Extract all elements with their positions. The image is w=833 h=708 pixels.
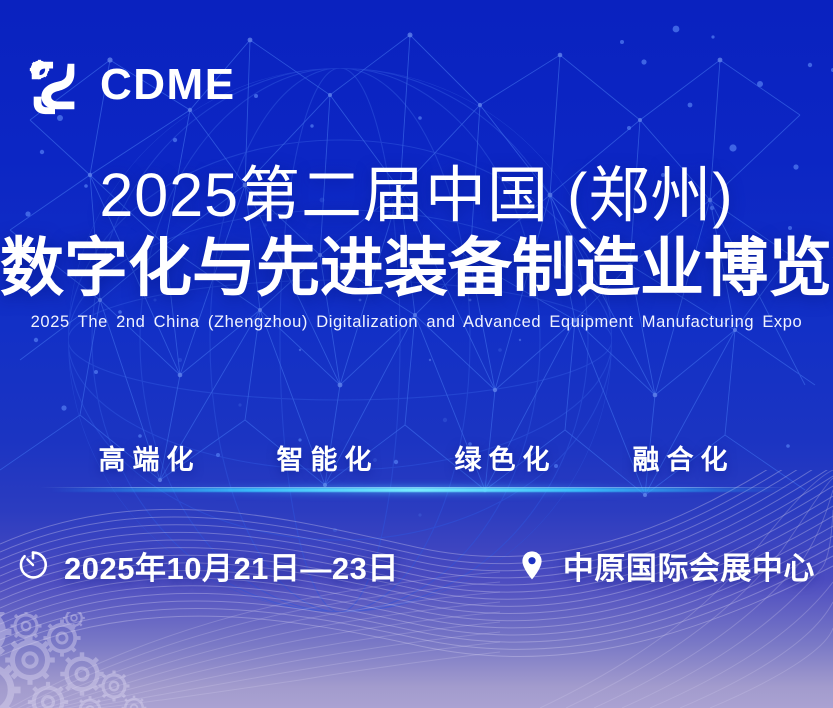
title-line-2: 数字化与先进装备制造业博览会	[0, 233, 833, 305]
keyword-list: 高端化 智能化 绿色化 融合化	[0, 438, 833, 477]
clock-icon	[16, 548, 50, 582]
glowing-divider	[0, 481, 833, 497]
divider-core-line	[50, 488, 783, 492]
brand-logo[interactable]: CDME	[24, 54, 236, 116]
brand-name: CDME	[100, 63, 236, 107]
gear-cluster-graphic	[0, 612, 204, 708]
keyword-item-3: 绿色化	[455, 438, 557, 477]
event-date-item: 2025年10月21日—23日	[16, 543, 399, 588]
cdme-gear-s-logo-icon	[24, 54, 86, 116]
keyword-item-4: 融合化	[633, 438, 735, 477]
event-venue-item: 中原国际会展中心	[515, 543, 815, 588]
title-line-1: 2025第二届中国 (郑州)	[0, 163, 833, 229]
event-poster: CDME 2025第二届中国 (郑州) 数字化与先进装备制造业博览会 2025 …	[0, 0, 833, 708]
location-pin-icon	[515, 548, 549, 582]
event-venue-text: 中原国际会展中心	[563, 543, 815, 588]
title-english-subtitle: 2025 The 2nd China (Zhengzhou) Digitaliz…	[0, 313, 833, 332]
event-date-text: 2025年10月21日—23日	[64, 543, 399, 588]
headline-block: 2025第二届中国 (郑州) 数字化与先进装备制造业博览会 2025 The 2…	[0, 163, 833, 332]
keyword-item-2: 智能化	[277, 438, 379, 477]
keyword-item-1: 高端化	[99, 438, 201, 477]
event-info-bar: 2025年10月21日—23日 中原国际会展中心	[0, 536, 833, 594]
